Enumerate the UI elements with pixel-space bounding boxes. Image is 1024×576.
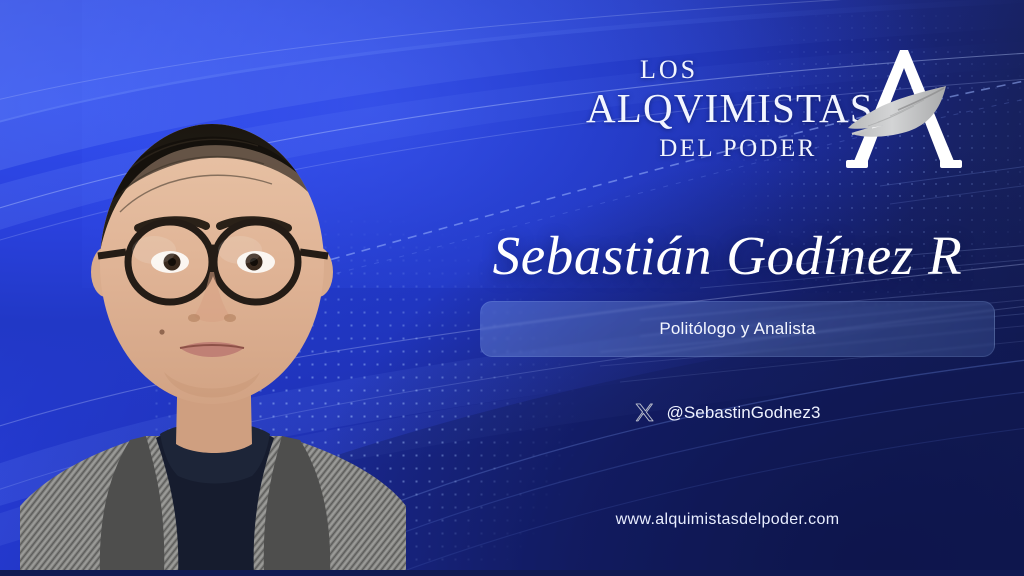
x-twitter-icon[interactable] <box>634 402 655 423</box>
website-url[interactable]: www.alquimistasdelpoder.com <box>455 511 1000 529</box>
bottom-edge-strip <box>0 570 1024 576</box>
speaker-role-bar: Politólogo y Analista <box>480 301 995 357</box>
brand-mark-a-with-feather <box>838 38 970 180</box>
brand-logo: LOS ALQVIMISTAS DEL PODER <box>586 36 976 181</box>
speaker-card: LOS ALQVIMISTAS DEL PODER <box>0 0 1024 576</box>
brand-line-del-poder: DEL PODER <box>650 136 826 161</box>
social-handle-row[interactable]: @SebastinGodnez3 <box>455 402 1000 423</box>
brand-line-alqvimistas: ALQVIMISTAS <box>586 88 826 129</box>
brand-line-los: LOS <box>512 57 826 83</box>
brand-logotype: LOS ALQVIMISTAS DEL PODER <box>586 57 826 161</box>
speaker-role-label: Politólogo y Analista <box>659 319 815 339</box>
social-handle-text[interactable]: @SebastinGodnez3 <box>666 403 820 423</box>
speaker-name: Sebastián Godínez R <box>455 227 1000 284</box>
